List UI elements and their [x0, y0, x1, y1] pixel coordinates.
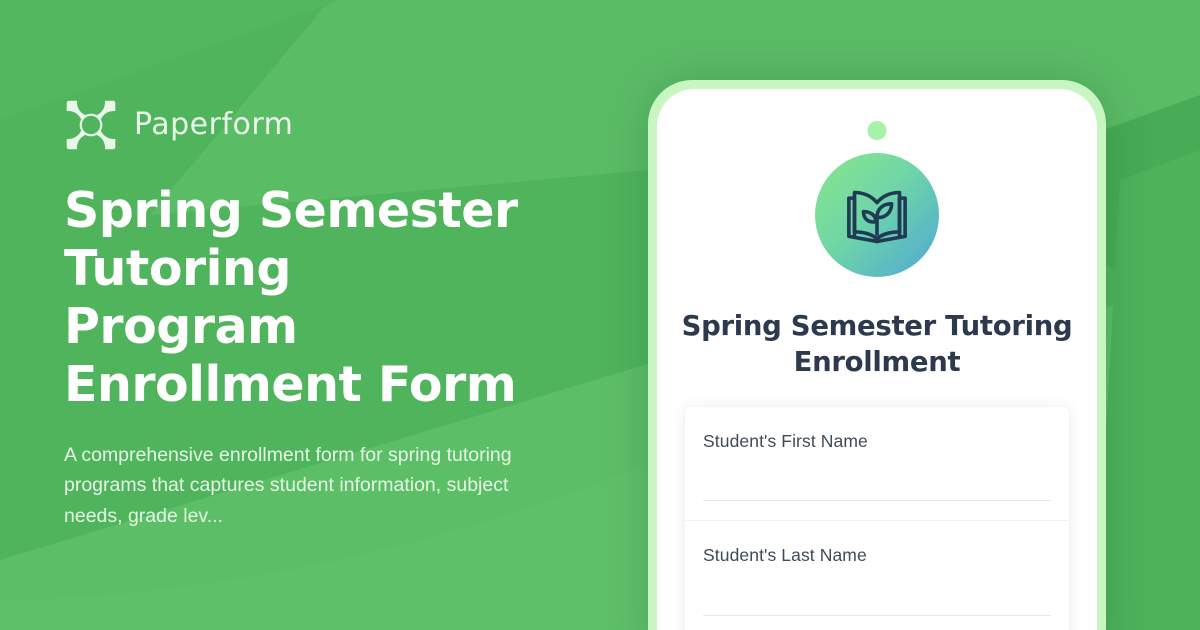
phone-mockup: Spring Semester Tutoring Enrollment Stud…: [648, 80, 1106, 630]
form-title: Spring Semester Tutoring Enrollment: [677, 308, 1077, 381]
brand-lockup: Paperform: [64, 98, 594, 152]
field-underline: [703, 615, 1051, 616]
form-field-first-name[interactable]: Student's First Name: [685, 407, 1069, 521]
page-title: Spring Semester Tutoring Program Enrollm…: [64, 182, 534, 413]
hero-content: Paperform Spring Semester Tutoring Progr…: [64, 0, 594, 630]
brand-name: Paperform: [134, 110, 293, 140]
form-fields-card: Student's First Name Student's Last Name: [685, 407, 1069, 630]
field-label: Student's Last Name: [703, 545, 1051, 566]
form-header: Spring Semester Tutoring Enrollment: [657, 89, 1097, 381]
phone-screen: Spring Semester Tutoring Enrollment Stud…: [657, 89, 1097, 630]
form-field-last-name[interactable]: Student's Last Name: [685, 521, 1069, 630]
share-preview-canvas: Paperform Spring Semester Tutoring Progr…: [0, 0, 1200, 630]
page-description: A comprehensive enrollment form for spri…: [64, 440, 519, 532]
field-underline: [703, 500, 1051, 501]
bg-band-right-edge: [1095, 150, 1200, 630]
open-book-sprout-icon: [815, 153, 939, 277]
paperform-logo-icon: [64, 98, 118, 152]
field-label: Student's First Name: [703, 431, 1051, 452]
